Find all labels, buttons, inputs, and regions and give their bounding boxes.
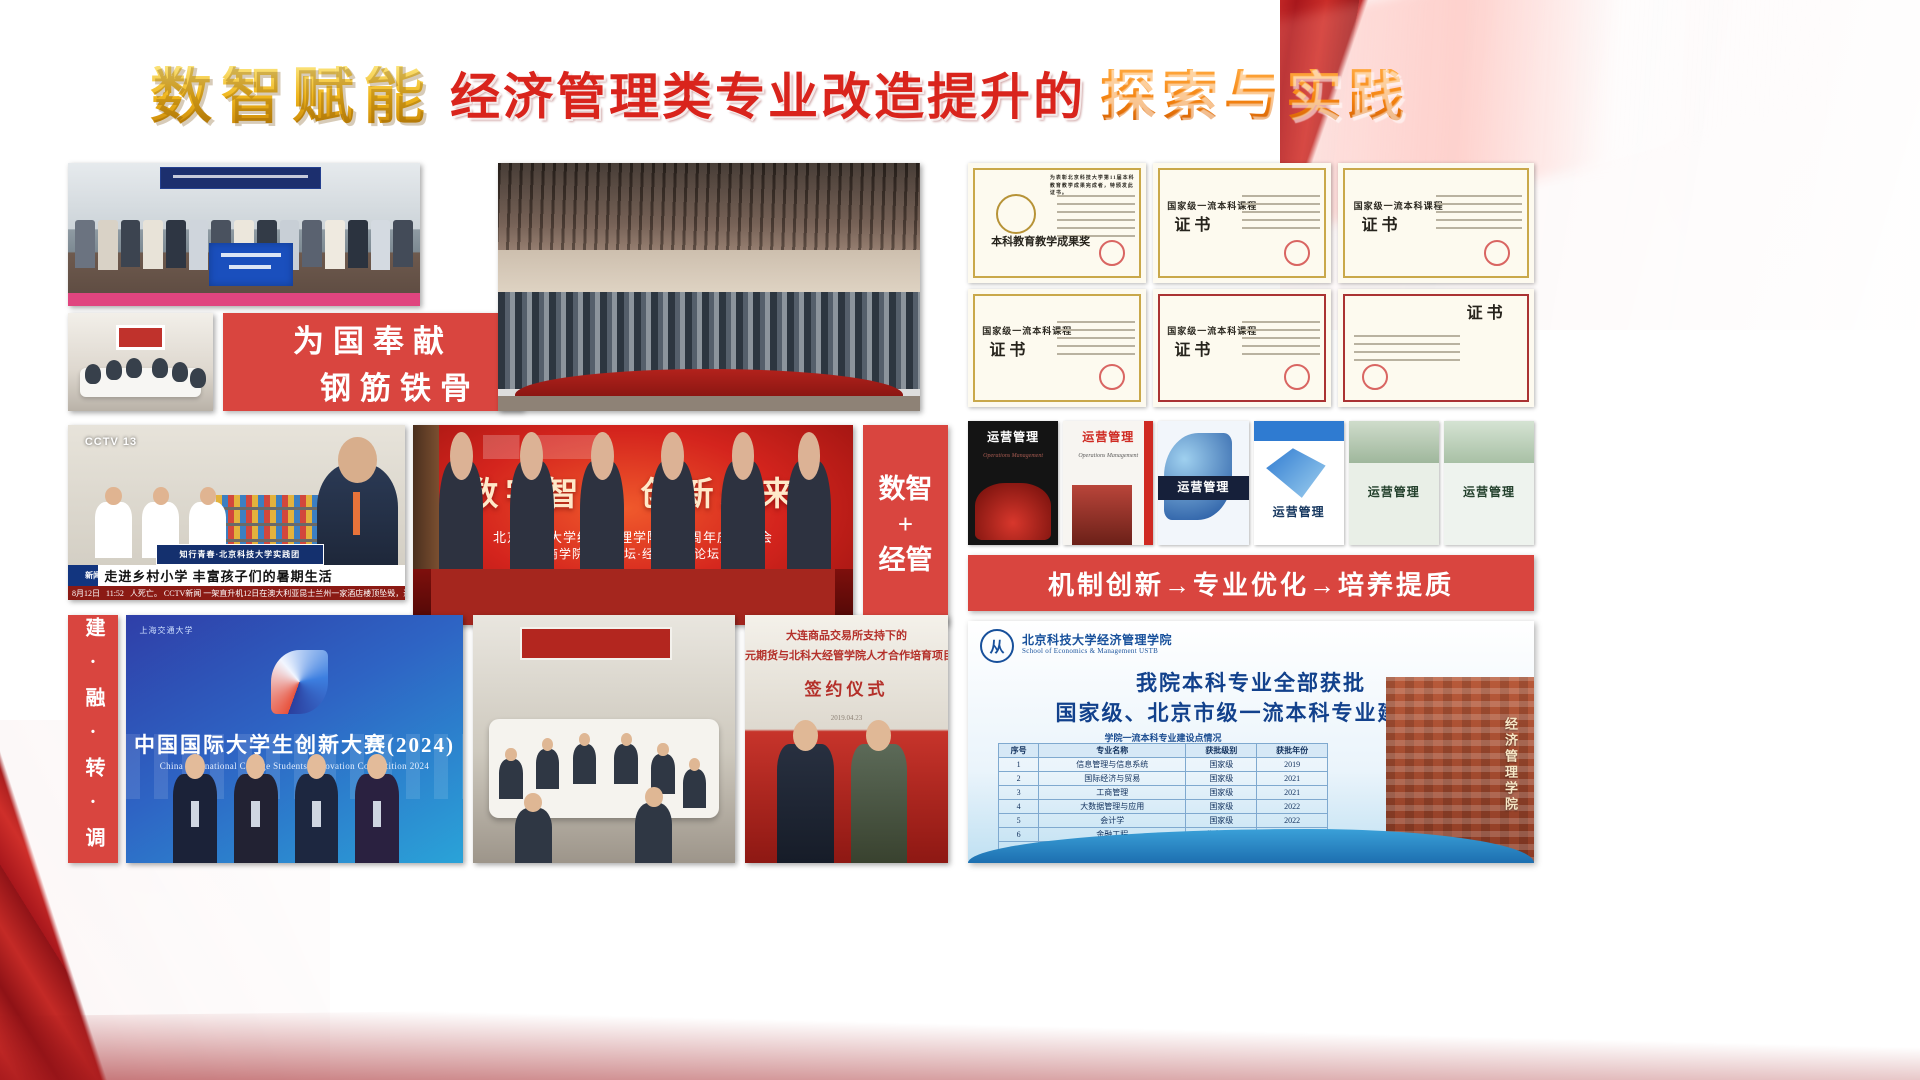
certificate-card: 国家级一流本科课程 证 书 <box>1338 163 1534 283</box>
photo-seminar-room <box>68 313 213 411</box>
table-cell: 3 <box>999 786 1039 800</box>
table-row: 1信息管理与信息系统国家级2019 <box>999 758 1328 772</box>
table-cell: 2 <box>999 772 1039 786</box>
book-cover: 运营管理 <box>1158 421 1248 545</box>
table-cell: 大数据管理与应用 <box>1039 800 1186 814</box>
table-cell: 国家级 <box>1186 758 1257 772</box>
table-cell: 会计学 <box>1039 814 1186 828</box>
book-cover: 运营管理 <box>1254 421 1344 545</box>
decorative-ribbon-bottom-edge <box>0 1010 1920 1080</box>
team-flag <box>209 243 293 286</box>
book-subtitle: Operations Management <box>968 453 1058 459</box>
table-cell: 2022 <box>1257 814 1328 828</box>
certificate-title: 国家级一流本科课程 <box>1354 199 1444 212</box>
caption-vertical-text: 建·融·转·调 <box>83 617 103 861</box>
table-cell: 2021 <box>1257 786 1328 800</box>
table-cell: 1 <box>999 758 1039 772</box>
table-header-row: 序号专业名称获批级别获批年份 <box>999 744 1328 758</box>
table-cell: 国家级 <box>1186 786 1257 800</box>
cctv-ticker-date: 8月12日 <box>72 588 100 599</box>
table-cell: 国际经济与贸易 <box>1039 772 1186 786</box>
book-subtitle: Operations Management <box>1063 453 1153 459</box>
table-row: 4大数据管理与应用国家级2022 <box>999 800 1328 814</box>
cctv-ticker-text: 人死亡。 CCTV新闻 一架直升机12日在澳大利亚昆士兰州一家酒店楼顶坠毁，造成 <box>130 588 405 599</box>
university-name-en: School of Economics & Management USTB <box>1022 647 1158 655</box>
table-cell: 国家级 <box>1186 800 1257 814</box>
caption-line-1: 为国奉献 <box>293 316 453 361</box>
table-row: 5会计学国家级2022 <box>999 814 1328 828</box>
table-cell: 2022 <box>1257 800 1328 814</box>
table-cell: 2021 <box>1257 772 1328 786</box>
competition-university-logo: 上海交通大学 <box>139 625 193 636</box>
certificate-label: 证 书 <box>1362 218 1398 233</box>
university-logo-icon: 从 <box>980 629 1014 663</box>
certificate-label: 证 书 <box>989 343 1025 358</box>
cctv-ticker-time: 11:52 <box>106 589 124 598</box>
photo-internship-group <box>68 163 420 306</box>
certificate-card: 国家级一流本科课程 证 书 <box>968 289 1146 407</box>
caption-national-dedication: 为国奉献 钢筋铁骨 <box>223 313 523 411</box>
title-segment-orange: 探索与实践 <box>1100 69 1410 125</box>
book-title: 运营管理 <box>1444 483 1534 500</box>
book-cover: 运营管理 Operations Management <box>968 421 1058 545</box>
book-cover: 运营管理 Operations Management <box>1063 421 1153 545</box>
textbook-gallery: 运营管理 Operations Management 运营管理 Operatio… <box>968 421 1534 545</box>
book-title: 运营管理 <box>968 428 1058 445</box>
caption-mechanism-innovation: 机制创新→专业优化→培养提质 <box>968 555 1534 611</box>
cctv-headline: 走进乡村小学 丰富孩子们的暑期生活 <box>98 565 405 586</box>
table-column-header: 获批级别 <box>1186 744 1257 758</box>
photo-40th-anniversary-forum: 数字智慧 创新未来 北京科技大学经济管理学院四十周年庆祝大会 商学院院长论坛·经… <box>413 425 853 625</box>
table-column-header: 序号 <box>999 744 1039 758</box>
table-cell: 5 <box>999 814 1039 828</box>
page-title: 数智赋能 经济管理类专业改造提升的 探索与实践 <box>0 56 1560 138</box>
caption-digital-economics: 数智 + 经管 <box>863 425 948 625</box>
cctv-channel-logo: CCTV 13 <box>85 436 137 448</box>
title-segment-gold: 数智赋能 <box>150 66 450 128</box>
caption-plus: + <box>898 507 913 542</box>
certificate-heading: 为表彰北京科技大学第11届本科教育教学成果完成者，特颁发此证书。 <box>1050 175 1135 198</box>
event-banner <box>160 167 322 189</box>
photo-collage: 为国奉献 钢筋铁骨 本科教育教学成果奖 为表彰北京科技大学第11届本科教育教学成… <box>68 163 1534 863</box>
building-sign: 经济管理学院 <box>1501 717 1520 813</box>
certificate-label: 证 书 <box>1174 218 1210 233</box>
photo-signing-ceremony: 大连商品交易所支持下的 元期货与北科大经管学院人才合作培育项目 签约仪式 201… <box>745 615 948 863</box>
table-cell: 6 <box>999 828 1039 842</box>
photo-auditorium <box>498 163 920 411</box>
book-cover: 运营管理 <box>1444 421 1534 545</box>
university-name: 北京科技大学经济管理学院 <box>1022 631 1172 648</box>
table-cell: 4 <box>999 800 1039 814</box>
cctv-ticker: 8月12日 11:52 人死亡。 CCTV新闻 一架直升机12日在澳大利亚昆士兰… <box>68 586 405 600</box>
table-column-header: 专业名称 <box>1039 744 1186 758</box>
table-cell: 工商管理 <box>1039 786 1186 800</box>
table-cell: 信息管理与信息系统 <box>1039 758 1186 772</box>
competition-title-en: China International College Students' In… <box>126 761 463 771</box>
majors-achievement-board: 从 北京科技大学经济管理学院 School of Economics & Man… <box>968 621 1534 863</box>
book-title: 运营管理 <box>1349 483 1439 500</box>
book-cover: 运营管理 <box>1349 421 1439 545</box>
table-cell: 国家级 <box>1186 814 1257 828</box>
certificate-footer: 本科教育教学成果奖 <box>991 237 1090 247</box>
certificate-card: 国家级一流本科课程 证 书 <box>1153 289 1331 407</box>
table-cell: 国家级 <box>1186 772 1257 786</box>
caption-shuzhi: 数智 <box>879 472 933 507</box>
ribbon-strip <box>0 1010 1920 1080</box>
certificate-card: 证 书 <box>1338 289 1534 407</box>
photo-innovation-competition: 上海交通大学 中国国际大学生创新大赛(2024) China Internati… <box>126 615 463 863</box>
certificate-label: 证 书 <box>1467 306 1503 321</box>
signing-date: 2019.04.23 <box>745 714 948 722</box>
signing-line-1: 大连商品交易所支持下的 <box>745 627 948 643</box>
competition-title-cn: 中国国际大学生创新大赛(2024) <box>126 729 463 759</box>
book-title: 运营管理 <box>1254 503 1344 520</box>
photo-classroom-meeting <box>473 615 735 863</box>
certificate-card: 本科教育教学成果奖 为表彰北京科技大学第11届本科教育教学成果完成者，特颁发此证… <box>968 163 1146 283</box>
certificate-label: 证 书 <box>1174 343 1210 358</box>
cctv-topic-line: 知行青春·北京科技大学实践团 <box>156 544 325 565</box>
signing-line-3: 签约仪式 <box>745 675 948 700</box>
book-title: 运营管理 <box>1158 478 1248 495</box>
table-row: 3工商管理国家级2021 <box>999 786 1328 800</box>
signing-line-2: 元期货与北科大经管学院人才合作培育项目 <box>745 647 948 663</box>
caption-line-2: 钢筋铁骨 <box>266 363 480 408</box>
table-column-header: 获批年份 <box>1257 744 1328 758</box>
title-segment-red: 经济管理类专业改造提升的 <box>450 72 1100 122</box>
caption-jingguan: 经管 <box>879 543 933 578</box>
book-title: 运营管理 <box>1063 428 1153 445</box>
certificate-gallery: 本科教育教学成果奖 为表彰北京科技大学第11届本科教育教学成果完成者，特颁发此证… <box>968 163 1534 411</box>
table-cell: 2019 <box>1257 758 1328 772</box>
certificate-card: 国家级一流本科课程 证 书 <box>1153 163 1331 283</box>
table-row: 2国际经济与贸易国家级2021 <box>999 772 1328 786</box>
caption-jian-rong-zhuan-tiao: 建·融·转·调 <box>68 615 118 863</box>
photo-cctv-news: CCTV 13 知行青春·北京科技大学实践团 新闻直播间 走进乡村小学 丰富孩子… <box>68 425 405 600</box>
